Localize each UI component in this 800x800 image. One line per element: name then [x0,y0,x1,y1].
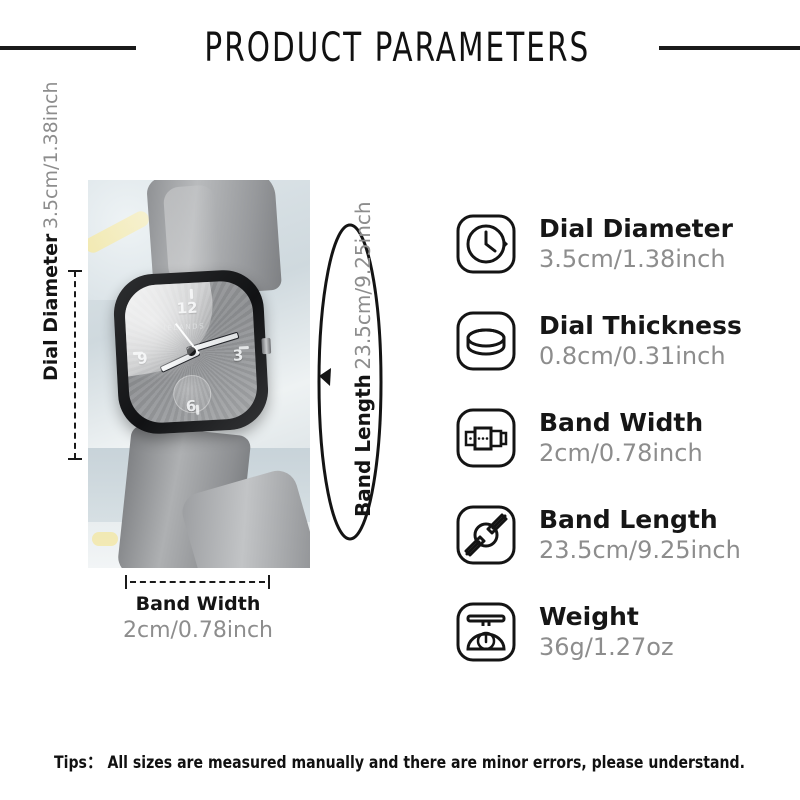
spec-text: Dial Diameter 3.5cm/1.38inch [539,213,733,275]
watch-strap-top-highlight [163,184,222,283]
band-length-annotation-label: Band Length [351,374,375,517]
page-title: PRODUCT PARAMETERS [183,25,612,71]
watch-product-photo: 12 3 6 9 IELANDS [88,180,310,568]
dial-diameter-annotation-value: 3.5cm/1.38inch [40,81,62,229]
kitchen-scale-icon [455,601,517,663]
spec-label: Band Width [539,407,703,438]
spec-value: 0.8cm/0.31inch [539,341,742,372]
spec-label: Dial Diameter [539,213,733,244]
dial-diameter-measure-line [68,265,82,465]
dial-diameter-annotation-label: Dial Diameter [40,234,62,381]
header-rule-left [0,46,136,50]
spec-value: 36g/1.27oz [539,632,674,663]
band-width-measure-line [125,575,270,589]
spec-row-dial-thickness: Dial Thickness 0.8cm/0.31inch [455,292,795,389]
tips-note: Tips： All sizes are measured manually an… [0,748,800,773]
spec-list: Dial Diameter 3.5cm/1.38inch Dial Thickn… [455,195,795,680]
measure-cap-left [125,575,127,589]
measure-dashed-line [130,581,265,583]
band-length-annotation: Band Length 23.5cm/9.25inch [351,227,375,517]
measure-dashed-line [74,271,76,459]
watch-crown [261,338,271,354]
spec-text: Band Width 2cm/0.78inch [539,407,703,469]
dial-diameter-annotation: Dial Diameter 3.5cm/1.38inch [40,191,62,381]
band-width-annotation: Band Width 2cm/0.78inch [78,592,318,645]
spec-row-band-width: Band Width 2cm/0.78inch [455,389,795,486]
dial-number-3: 3 [232,346,243,365]
header-rule-right [659,46,800,50]
spec-text: Weight 36g/1.27oz [539,601,674,663]
measure-cap-bottom [68,458,82,460]
band-length-annotation-value: 23.5cm/9.25inch [351,201,375,369]
spec-row-band-length: Band Length 23.5cm/9.25inch [455,486,795,583]
product-parameters-page: PRODUCT PARAMETERS 12 3 6 9 IEL [0,0,800,800]
spec-text: Dial Thickness 0.8cm/0.31inch [539,310,742,372]
tips-text: Tips： All sizes are measured manually an… [55,748,746,773]
watch-dial-icon [455,213,517,275]
spec-value: 23.5cm/9.25inch [539,535,741,566]
spec-row-weight: Weight 36g/1.27oz [455,583,795,680]
spec-text: Band Length 23.5cm/9.25inch [539,504,741,566]
disc-thickness-icon [455,310,517,372]
watch-dial: 12 3 6 9 IELANDS [123,280,258,425]
measure-cap-right [268,575,270,589]
spec-value: 2cm/0.78inch [539,438,703,469]
spec-label: Weight [539,601,674,632]
band-width-annotation-value: 2cm/0.78inch [78,617,318,645]
spec-value: 3.5cm/1.38inch [539,244,733,275]
spec-row-dial-diameter: Dial Diameter 3.5cm/1.38inch [455,195,795,292]
photo-prop-yellow-2 [92,532,118,546]
watch-case: 12 3 6 9 IELANDS [112,268,270,436]
page-header: PRODUCT PARAMETERS [0,18,800,78]
spec-label: Band Length [539,504,741,535]
watch-strap-icon [455,504,517,566]
band-width-annotation-label: Band Width [78,592,318,617]
buckle-icon [455,407,517,469]
spec-label: Dial Thickness [539,310,742,341]
